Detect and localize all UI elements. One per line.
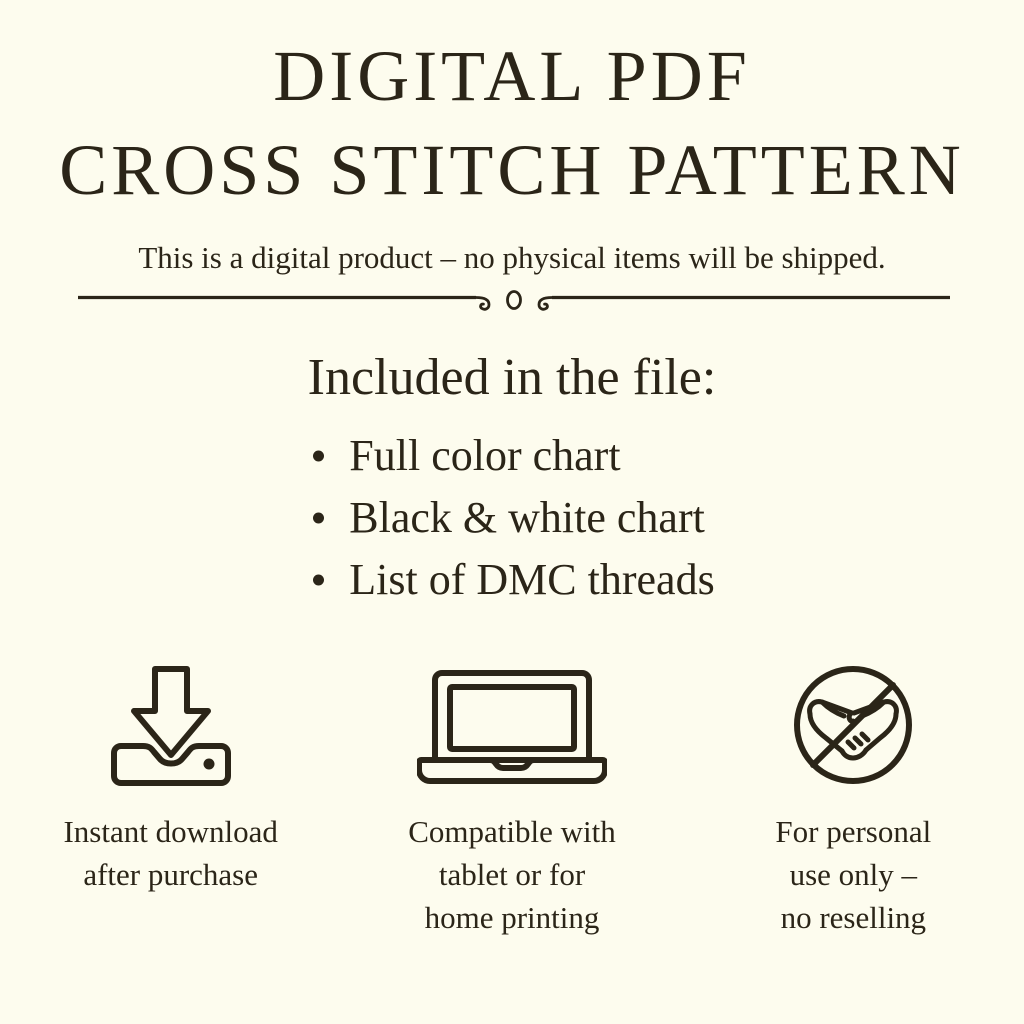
page-subtitle: This is a digital product – no physical … <box>0 206 1024 273</box>
included-section: Included in the file: Full color chart B… <box>0 352 1024 602</box>
swirl-ornament-icon <box>78 283 950 313</box>
header: DIGITAL PDF CROSS STITCH PATTERN This is… <box>0 0 1024 273</box>
list-item: List of DMC threads <box>309 558 714 602</box>
download-icon <box>111 655 231 795</box>
laptop-icon <box>417 655 607 795</box>
prohibition-slash-icon <box>813 685 893 765</box>
feature-caption: Compatible with tablet or for home print… <box>408 811 616 939</box>
feature-caption: Instant download after purchase <box>63 811 277 897</box>
list-item-label: List of DMC threads <box>349 555 714 604</box>
feature-personal-use-only: For personal use only – no reselling <box>683 655 1024 939</box>
ornamental-divider <box>78 283 950 313</box>
bullet-dot-icon <box>313 513 324 524</box>
feature-compatible-devices: Compatible with tablet or for home print… <box>341 655 682 939</box>
page-title-line-2: CROSS STITCH PATTERN <box>0 112 1024 206</box>
included-list: Full color chart Black & white chart Lis… <box>309 434 714 602</box>
bullet-dot-icon <box>313 575 324 586</box>
included-heading: Included in the file: <box>0 352 1024 404</box>
features-row: Instant download after purchase Compatib… <box>0 655 1024 939</box>
listing-info-graphic: DIGITAL PDF CROSS STITCH PATTERN This is… <box>0 0 1024 1024</box>
list-item: Full color chart <box>309 434 714 478</box>
list-item-label: Black & white chart <box>349 493 705 542</box>
bullet-dot-icon <box>313 451 324 462</box>
handshake-icon <box>810 702 897 758</box>
page-title-line-1: DIGITAL PDF <box>0 0 1024 112</box>
list-item-label: Full color chart <box>349 431 620 480</box>
feature-instant-download: Instant download after purchase <box>0 655 341 939</box>
list-item: Black & white chart <box>309 496 714 540</box>
tray-indicator-dot-icon <box>203 758 214 769</box>
feature-caption: For personal use only – no reselling <box>775 811 931 939</box>
no-handshake-icon <box>786 655 920 795</box>
